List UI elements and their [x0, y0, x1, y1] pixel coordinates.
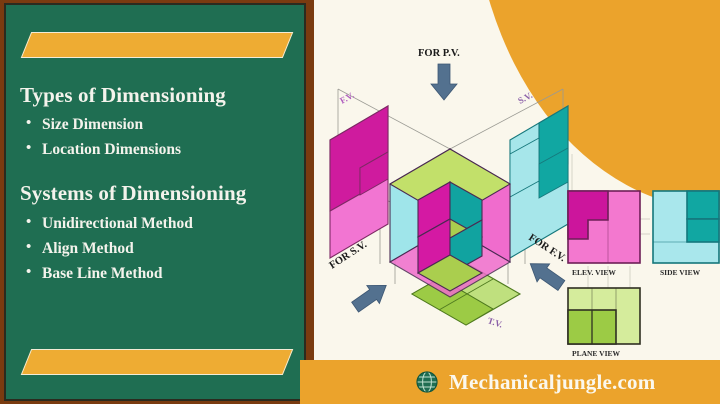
ortho-elev-view — [568, 191, 640, 263]
label-top-view: T.V. — [486, 315, 504, 329]
ortho-plane-view — [568, 288, 640, 344]
heading-systems-of-dimensioning: Systems of Dimensioning — [20, 181, 306, 205]
arrow-for-pv — [431, 64, 457, 100]
heading-types-of-dimensioning: Types of Dimensioning — [20, 83, 306, 107]
decorative-bar-bottom — [21, 349, 294, 375]
site-name: Mechanicaljungle.com — [449, 370, 655, 395]
left-panel-frame: Types of Dimensioning Size Dimension Loc… — [0, 0, 314, 404]
list-item: Base Line Method — [20, 261, 306, 286]
list-item: Align Method — [20, 236, 306, 261]
label-elev-view: ELEV. VIEW — [572, 268, 616, 277]
footer-bar: Mechanicaljungle.com — [300, 360, 720, 404]
label-side-view-ortho: SIDE VIEW — [660, 268, 701, 277]
ortho-side-view — [653, 191, 719, 263]
list-systems-of-dimensioning: Unidirectional Method Align Method Base … — [20, 211, 306, 286]
isometric-projection-diagram: F.V. S.V. T.V. — [320, 34, 720, 364]
slide-canvas: Types of Dimensioning Size Dimension Loc… — [0, 0, 720, 404]
arrow-for-sv — [349, 276, 393, 316]
label-for-fv: FOR F.V. — [526, 232, 567, 264]
list-item: Size Dimension — [20, 112, 306, 137]
label-plane-view: PLANE VIEW — [572, 349, 620, 358]
label-for-pv: FOR P.V. — [418, 48, 460, 59]
list-types-of-dimensioning: Size Dimension Location Dimensions — [20, 112, 306, 162]
globe-icon — [416, 371, 438, 393]
list-item: Unidirectional Method — [20, 211, 306, 236]
label-side-view: S.V. — [516, 90, 534, 106]
label-front-view: F.V. — [338, 90, 356, 106]
left-panel: Types of Dimensioning Size Dimension Loc… — [4, 3, 306, 401]
panel-content: Types of Dimensioning Size Dimension Loc… — [20, 83, 306, 286]
decorative-bar-top — [21, 32, 294, 58]
list-item: Location Dimensions — [20, 137, 306, 162]
